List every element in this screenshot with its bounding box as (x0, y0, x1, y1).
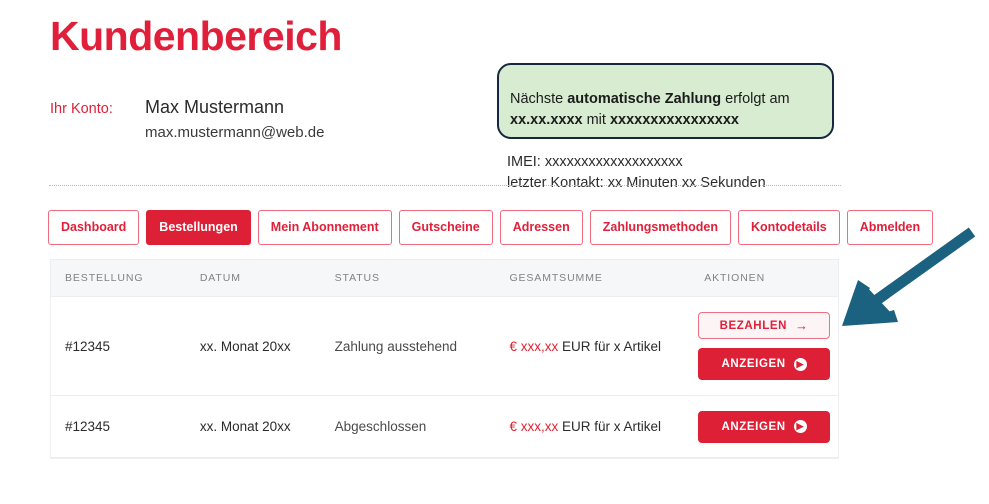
tab-gutscheine[interactable]: Gutscheine (399, 210, 493, 245)
order-total-amount: € xxx,xx (509, 339, 558, 354)
column-header-aktionen: AKTIONEN (690, 272, 838, 284)
tab-bestellungen[interactable]: Bestellungen (146, 210, 251, 245)
tab-kontodetails[interactable]: Kontodetails (738, 210, 840, 245)
device-info-block: IMEI: xxxxxxxxxxxxxxxxxxx letzter Kontak… (507, 152, 766, 194)
imei-label: IMEI: (507, 154, 541, 170)
button-label: ANZEIGEN (721, 358, 785, 370)
account-nav-tabs: DashboardBestellungenMein AbonnementGuts… (48, 210, 933, 245)
order-actions-cell: ANZEIGEN▶ (690, 411, 838, 443)
column-header-datum: DATUM (186, 272, 321, 284)
tab-dashboard[interactable]: Dashboard (48, 210, 139, 245)
account-label: Ihr Konto: (50, 101, 113, 117)
order-date: xx. Monat 20xx (186, 339, 321, 354)
column-header-gesamtsumme: GESAMTSUMME (495, 272, 690, 284)
order-total-suffix: EUR für x Artikel (558, 339, 661, 354)
order-actions-cell: BEZAHLEN→ANZEIGEN▶ (690, 312, 838, 380)
next-payment-callout-text: Nächste automatische Zahlung erfolgt am … (510, 89, 830, 131)
column-header-status: STATUS (321, 272, 496, 284)
order-id: #12345 (51, 419, 186, 434)
table-row: #12345xx. Monat 20xxAbgeschlossen€ xxx,x… (51, 396, 838, 458)
tab-mein-abonnement[interactable]: Mein Abonnement (258, 210, 392, 245)
dotted-divider (49, 185, 841, 186)
orders-table: BESTELLUNGDATUMSTATUSGESAMTSUMMEAKTIONEN… (50, 259, 839, 459)
order-total-amount: € xxx,xx (509, 419, 558, 434)
callout-line1-suffix: erfolgt am (721, 91, 790, 107)
imei-line: IMEI: xxxxxxxxxxxxxxxxxxx (507, 152, 766, 173)
callout-payment-method: xxxxxxxxxxxxxxxx (610, 112, 739, 128)
last-contact-label: letzter Kontakt: (507, 175, 604, 191)
circle-arrow-right-icon: ▶ (794, 420, 807, 433)
imei-value: xxxxxxxxxxxxxxxxxxx (545, 154, 683, 170)
button-label: BEZAHLEN (720, 320, 787, 332)
tab-zahlungsmethoden[interactable]: Zahlungsmethoden (590, 210, 731, 245)
order-id: #12345 (51, 339, 186, 354)
column-header-bestellung: BESTELLUNG (51, 272, 186, 284)
tab-abmelden[interactable]: Abmelden (847, 210, 933, 245)
order-date: xx. Monat 20xx (186, 419, 321, 434)
order-status: Abgeschlossen (321, 419, 496, 434)
order-total-suffix: EUR für x Artikel (558, 419, 661, 434)
order-total: € xxx,xx EUR für x Artikel (495, 419, 690, 434)
orders-table-body: #12345xx. Monat 20xxZahlung ausstehend€ … (51, 297, 838, 458)
account-email: max.mustermann@web.de (145, 124, 324, 141)
last-contact-line: letzter Kontakt: xx Minuten xx Sekunden (507, 173, 766, 194)
arrow-right-icon: → (795, 319, 809, 332)
table-row: #12345xx. Monat 20xxZahlung ausstehend€ … (51, 297, 838, 396)
callout-line1-bold: automatische Zahlung (567, 91, 721, 107)
tab-adressen[interactable]: Adressen (500, 210, 583, 245)
callout-payment-date: xx.xx.xxxx (510, 112, 583, 128)
circle-arrow-right-icon: ▶ (794, 358, 807, 371)
anzeigen-button[interactable]: ANZEIGEN▶ (698, 411, 830, 443)
button-label: ANZEIGEN (721, 421, 785, 433)
orders-table-header-row: BESTELLUNGDATUMSTATUSGESAMTSUMMEAKTIONEN (51, 260, 838, 297)
anzeigen-button[interactable]: ANZEIGEN▶ (698, 348, 830, 380)
order-status: Zahlung ausstehend (321, 339, 496, 354)
last-contact-value: xx Minuten xx Sekunden (608, 175, 766, 191)
page-title: Kundenbereich (50, 14, 342, 59)
account-name: Max Mustermann (145, 97, 284, 118)
callout-line1-prefix: Nächste (510, 91, 567, 107)
callout-line2-mid: mit (583, 112, 610, 128)
order-total: € xxx,xx EUR für x Artikel (495, 339, 690, 354)
bezahlen-button[interactable]: BEZAHLEN→ (698, 312, 830, 339)
